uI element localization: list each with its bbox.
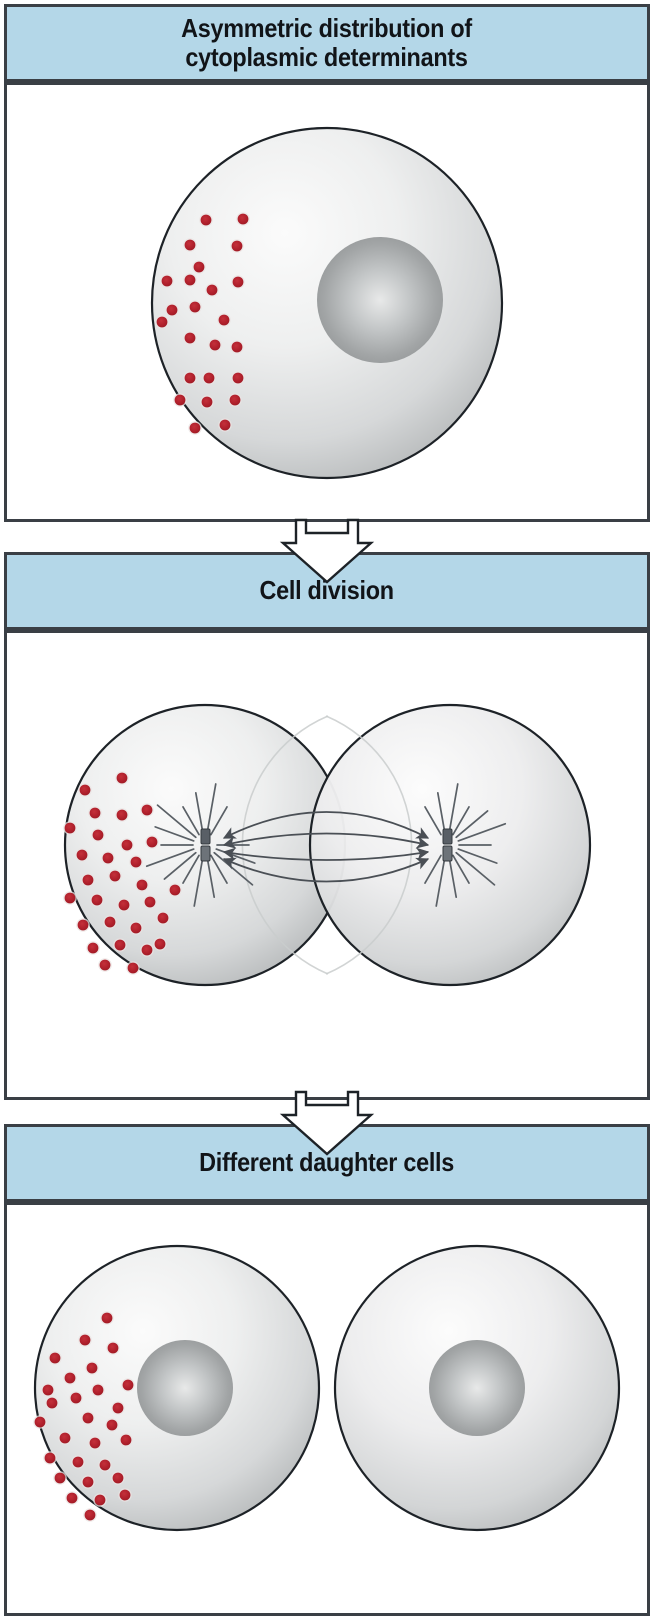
panel-1-title-line-1: Asymmetric distribution of — [182, 14, 473, 43]
panel-3-title-line-1: Different daughter cells — [200, 1148, 455, 1177]
panel-1-title-line-2: cytoplasmic determinants — [182, 43, 473, 72]
panel-1-title: Asymmetric distribution of cytoplasmic d… — [182, 14, 473, 72]
panel-2-title: Cell division — [260, 576, 394, 605]
panel-2-title-line-1: Cell division — [260, 576, 394, 605]
panel-3-body — [4, 1202, 650, 1616]
asymmetric-cell-division-figure: Asymmetric distribution of cytoplasmic d… — [0, 0, 654, 1620]
panel-1-body — [4, 82, 650, 522]
panel-2-header: Cell division — [4, 552, 650, 630]
panel-2-body — [4, 630, 650, 1100]
panel-1-header: Asymmetric distribution of cytoplasmic d… — [4, 4, 650, 82]
panel-3-title: Different daughter cells — [200, 1148, 455, 1177]
panel-3-header: Different daughter cells — [4, 1124, 650, 1202]
